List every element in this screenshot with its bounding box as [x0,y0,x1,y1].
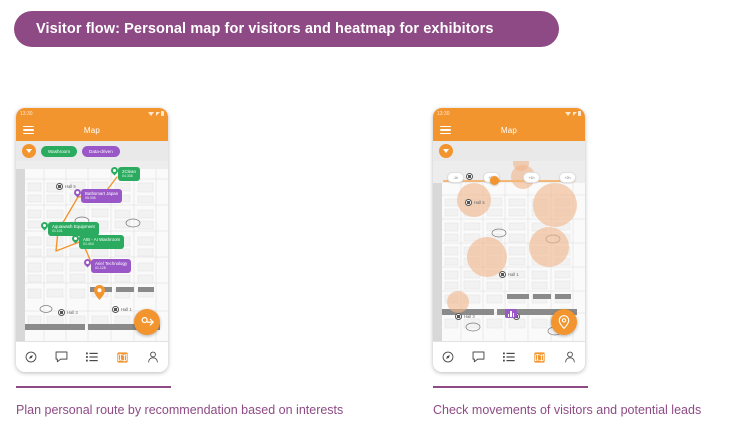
map-pin-icon [41,222,48,232]
hall-label-text: Hall 1 [508,272,519,277]
hall-label: Hall 1 [112,306,132,313]
caption-text: Check movements of visitors and potentia… [433,403,701,417]
caption-personal-map: Plan personal route by recommendation ba… [16,386,343,417]
bottom-navigation [433,341,585,372]
map-pin-icon [84,259,91,269]
hall-label-text: Hall 1 [121,307,132,312]
funnel-icon[interactable] [22,144,36,158]
caption-heatmap: Check movements of visitors and potentia… [433,386,701,417]
hall-label [466,173,473,180]
status-icons [565,111,581,116]
hall-label: Hall 1 [499,271,519,278]
status-bar: 13:30 [16,108,168,119]
route-icon [141,316,154,329]
battery-icon [161,111,164,116]
poi-code: 04.336 [122,174,136,178]
hall-label: Hall 3 [58,309,78,316]
phone-mockup-personal-map: 13:30 Map Washroom Data-driven [16,108,168,372]
funnel-icon[interactable] [439,144,453,158]
filter-chip-data-driven[interactable]: Data-driven [82,146,120,157]
hall-label-text: Hall 3 [67,310,78,315]
filter-bar: Washroom Data-driven [16,141,168,161]
phone-mockup-heatmap: 13:30 Map [433,108,585,372]
poi-code: 01.404 [83,242,120,246]
map-poi-2clean[interactable]: 2Clean 04.336 [111,167,140,181]
filter-bar [433,141,585,161]
caption-rule [433,386,588,388]
wifi-icon [148,112,154,116]
status-time: 13:30 [20,111,33,117]
poi-label: Bathsmart Japan 05.036 [81,189,122,203]
nav-person-icon[interactable] [560,347,580,367]
hall-marker-icon [455,313,462,320]
location-pin-icon [557,315,571,329]
hall-label: Hall 3 [455,313,475,320]
poi-label: Ariel Technology 01.128 [91,259,131,273]
heat-blob [529,227,569,267]
wifi-icon [565,112,571,116]
time-slider-knob[interactable] [490,176,499,185]
time-slider-pill[interactable]: +1h [523,172,540,183]
nav-compass-icon[interactable] [438,347,458,367]
caption-rule [16,386,171,388]
hall-label-text: Hall 3 [464,314,475,319]
map-poi-bathsmart-japan[interactable]: Bathsmart Japan 05.036 [74,189,122,203]
map-poi-ariel-technology[interactable]: Ariel Technology 01.128 [84,259,131,273]
hall-label-text: Hall 5 [474,200,485,205]
signal-icon [573,112,577,116]
poi-label: Aquawash Equipment 01.101 [48,222,99,236]
nav-chat-icon[interactable] [469,347,489,367]
nav-map-icon[interactable] [112,347,132,367]
route-fab-button[interactable] [134,309,160,335]
time-slider-pill[interactable]: +2h [559,172,576,183]
hall-label: Hall 5 [465,199,485,206]
nav-list-icon[interactable] [499,347,519,367]
status-time: 13:30 [437,111,450,117]
hall-marker-icon [465,199,472,206]
status-icons [148,111,164,116]
battery-icon [578,111,581,116]
hall-marker-icon [499,271,506,278]
app-bar-title: Map [16,126,168,135]
hall-label: Hall 5 [56,183,76,190]
poi-code: 05.036 [85,196,118,200]
filter-chip-washroom[interactable]: Washroom [41,146,77,157]
nav-person-icon[interactable] [143,347,163,367]
bar-chart-icon[interactable] [505,309,517,318]
hall-marker-icon [58,309,65,316]
time-slider-pill[interactable]: -1h [447,172,464,183]
caption-text: Plan personal route by recommendation ba… [16,403,343,417]
heat-blob [533,183,577,227]
map-poi-aquawash-equipment[interactable]: Aquawash Equipment 01.101 [41,222,99,236]
poi-label: AIB - AI Washroom 01.404 [79,235,124,249]
map-pin-current-location[interactable] [94,285,105,305]
nav-chat-icon[interactable] [52,347,72,367]
page-title: Visitor flow: Personal map for visitors … [14,21,494,37]
heat-blob [447,291,469,313]
bottom-navigation [16,341,168,372]
app-bar: Map [433,119,585,141]
time-slider[interactable]: -1h +2h +1h +2h [433,167,585,187]
map-pin-icon [111,167,118,177]
hall-marker-icon [56,183,63,190]
page-title-banner: Visitor flow: Personal map for visitors … [14,11,559,47]
nav-compass-icon[interactable] [21,347,41,367]
hall-marker-icon [112,306,119,313]
app-bar: Map [16,119,168,141]
heatmap-fab-button[interactable] [551,309,577,335]
poi-code: 01.101 [52,229,95,233]
map-pin-icon [74,189,81,199]
nav-list-icon[interactable] [82,347,102,367]
nav-map-icon[interactable] [529,347,549,367]
signal-icon [156,112,160,116]
map-pin-icon [72,235,79,245]
app-bar-title: Map [433,126,585,135]
hall-marker-icon [466,173,473,180]
map-poi-aib-ai-washroom[interactable]: AIB - AI Washroom 01.404 [72,235,124,249]
poi-code: 01.128 [95,266,127,270]
poi-label: 2Clean 04.336 [118,167,140,181]
status-bar: 13:30 [433,108,585,119]
